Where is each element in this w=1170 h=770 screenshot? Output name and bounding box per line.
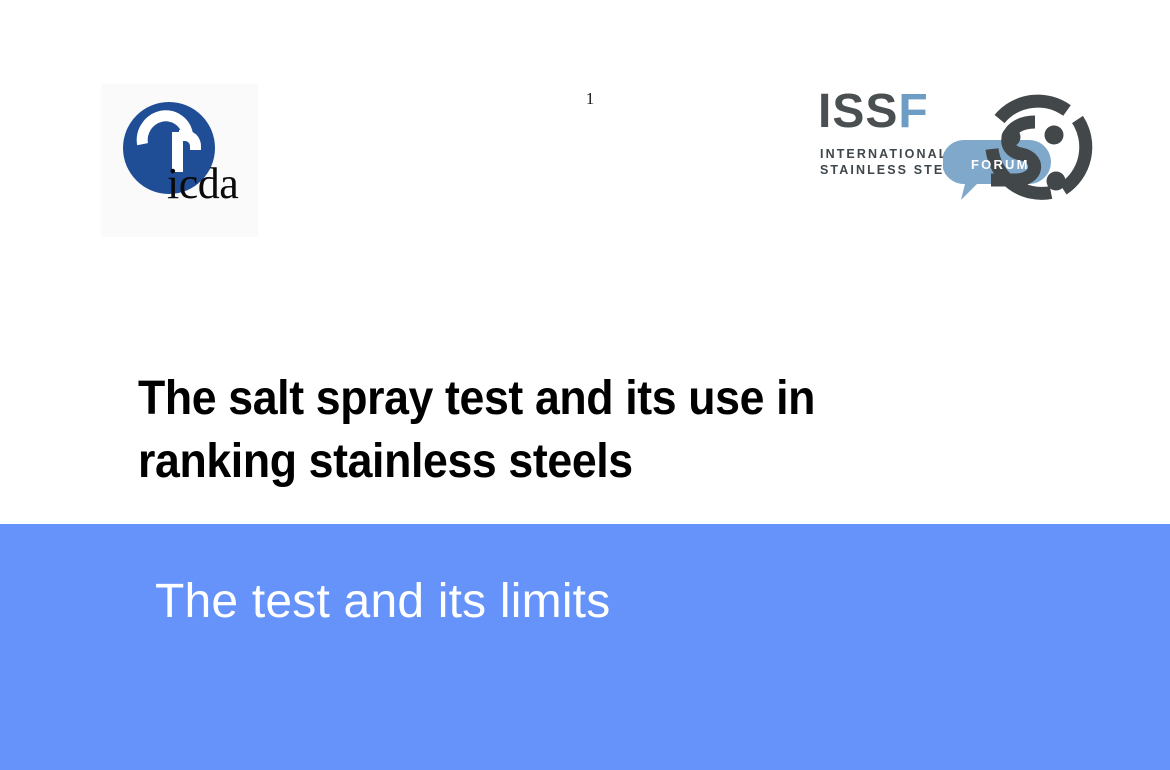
issf-wordmark: ISSF: [818, 88, 929, 136]
issf-dot-3: [1047, 172, 1066, 191]
forum-label: FORUM: [971, 157, 1030, 172]
presentation-slide: icda 1 ISSF INTERNATIONAL STAINLESS STEE…: [0, 0, 1170, 770]
issf-emblem-icon: FORUM: [943, 88, 1108, 206]
icda-logo: icda: [101, 84, 258, 237]
page-number: 1: [560, 89, 620, 109]
issf-logo: ISSF INTERNATIONAL STAINLESS STEEL: [818, 88, 1108, 206]
page-title-line-2: ranking stainless steels: [138, 430, 975, 493]
issf-wordmark-accent: F: [898, 85, 928, 138]
section-banner-title: The test and its limits: [155, 572, 610, 632]
issf-wordmark-primary: ISS: [818, 85, 898, 138]
page-title-line-1: The salt spray test and its use in: [138, 367, 975, 430]
page-title: The salt spray test and its use in ranki…: [138, 367, 975, 493]
section-banner: [0, 524, 1170, 770]
issf-dot-2: [1045, 126, 1064, 145]
icda-wordmark: icda: [167, 162, 238, 206]
